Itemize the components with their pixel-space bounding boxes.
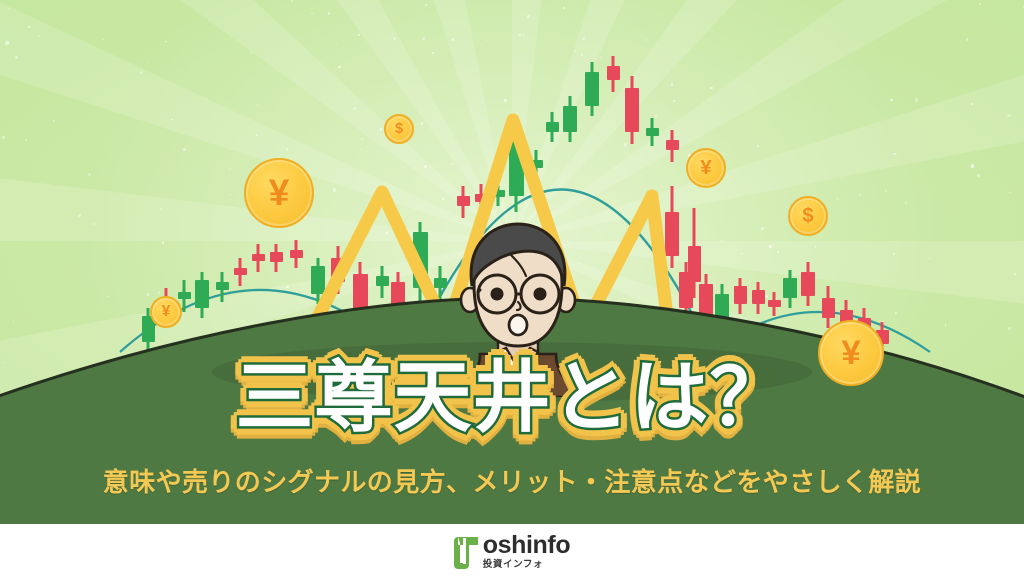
- eye-left: [491, 288, 504, 301]
- glasses-temple: [478, 290, 480, 292]
- thumbnail-canvas: ¥$¥¥$¥ 三尊天井とは？ 意味や売りのシグナルの見方、メリット・注意点などを…: [0, 0, 1024, 576]
- page-subtitle: 意味や売りのシグナルの見方、メリット・注意点などをやさしく解説: [0, 462, 1024, 499]
- footer-bar: oshinfo 投資インフォ: [0, 524, 1024, 576]
- logo-stem: [463, 538, 466, 564]
- toshinfo-t-logo-icon: [454, 535, 480, 569]
- brand-text: oshinfo 投資インフォ: [483, 533, 570, 570]
- eye-right: [534, 288, 547, 301]
- brand-tagline: 投資インフォ: [483, 560, 570, 570]
- brand-wordmark: oshinfo: [483, 533, 570, 558]
- brand-logo[interactable]: oshinfo 投資インフォ: [454, 533, 570, 570]
- page-title: 三尊天井とは？: [0, 358, 1024, 436]
- mouth: [509, 315, 527, 335]
